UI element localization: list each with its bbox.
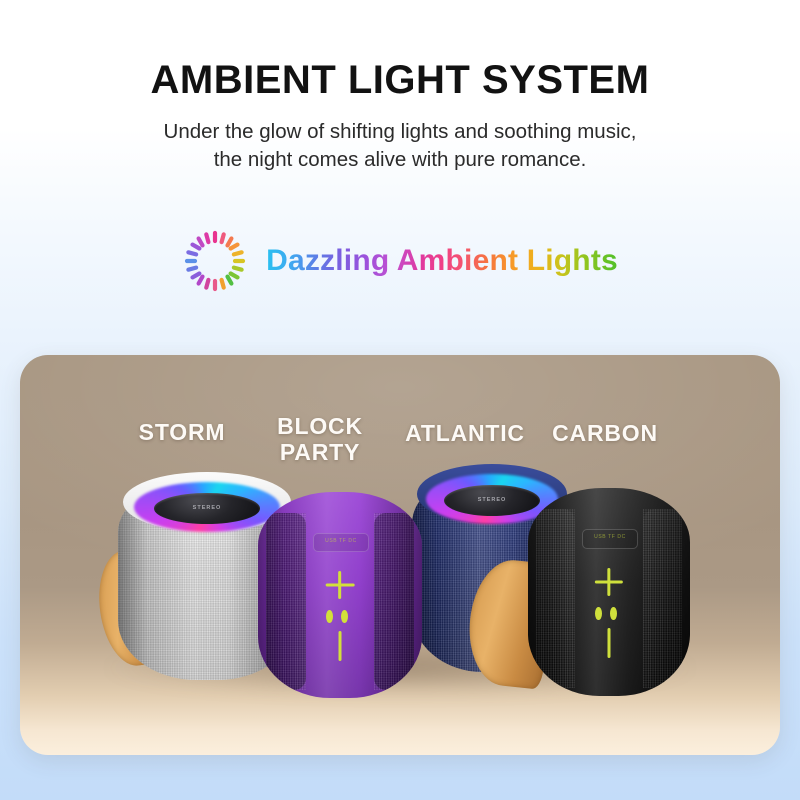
top-cap: STEREO [154,493,261,524]
rainbow-loading-ring-icon [182,228,248,294]
plus-button-icon[interactable] [326,571,355,599]
subtitle-line-1: Under the glow of shifting lights and so… [110,118,690,146]
product-label-block-party: BLOCK PARTY [277,413,363,465]
mode-button-icon[interactable] [610,607,617,620]
product-label-storm: STORM [139,420,226,445]
port-cover[interactable]: USB TF DC [313,533,370,553]
minus-button-icon[interactable] [607,628,610,658]
product-feature-graphic: AMBIENT LIGHT SYSTEM Under the glow of s… [0,0,800,800]
product-label-carbon: CARBON [552,421,658,446]
control-strip: USB TF DC [578,515,640,692]
plus-button-icon[interactable] [595,568,623,596]
brand-mark: STEREO [154,505,261,511]
brand-mark: STEREO [444,497,540,503]
control-strip: USB TF DC [309,519,371,694]
subtitle-line-2: the night comes alive with pure romance. [110,146,690,174]
tagline-text: Dazzling Ambient Lights [266,244,618,278]
page-title: AMBIENT LIGHT SYSTEM [0,58,800,103]
product-label-atlantic: ATLANTIC [405,421,525,446]
subtitle: Under the glow of shifting lights and so… [110,118,690,174]
tagline-row: Dazzling Ambient Lights [0,228,800,294]
play-button-icon[interactable] [326,610,333,623]
minus-button-icon[interactable] [338,631,341,661]
port-label: USB TF DC [314,538,369,544]
play-button-icon[interactable] [595,607,602,620]
port-label: USB TF DC [583,534,637,540]
top-cap: STEREO [444,485,540,516]
mode-button-icon[interactable] [341,610,348,623]
speaker-block-party[interactable]: USB TF DC [258,492,422,698]
speaker-carbon[interactable]: USB TF DC [528,488,690,696]
port-cover[interactable]: USB TF DC [582,529,638,549]
